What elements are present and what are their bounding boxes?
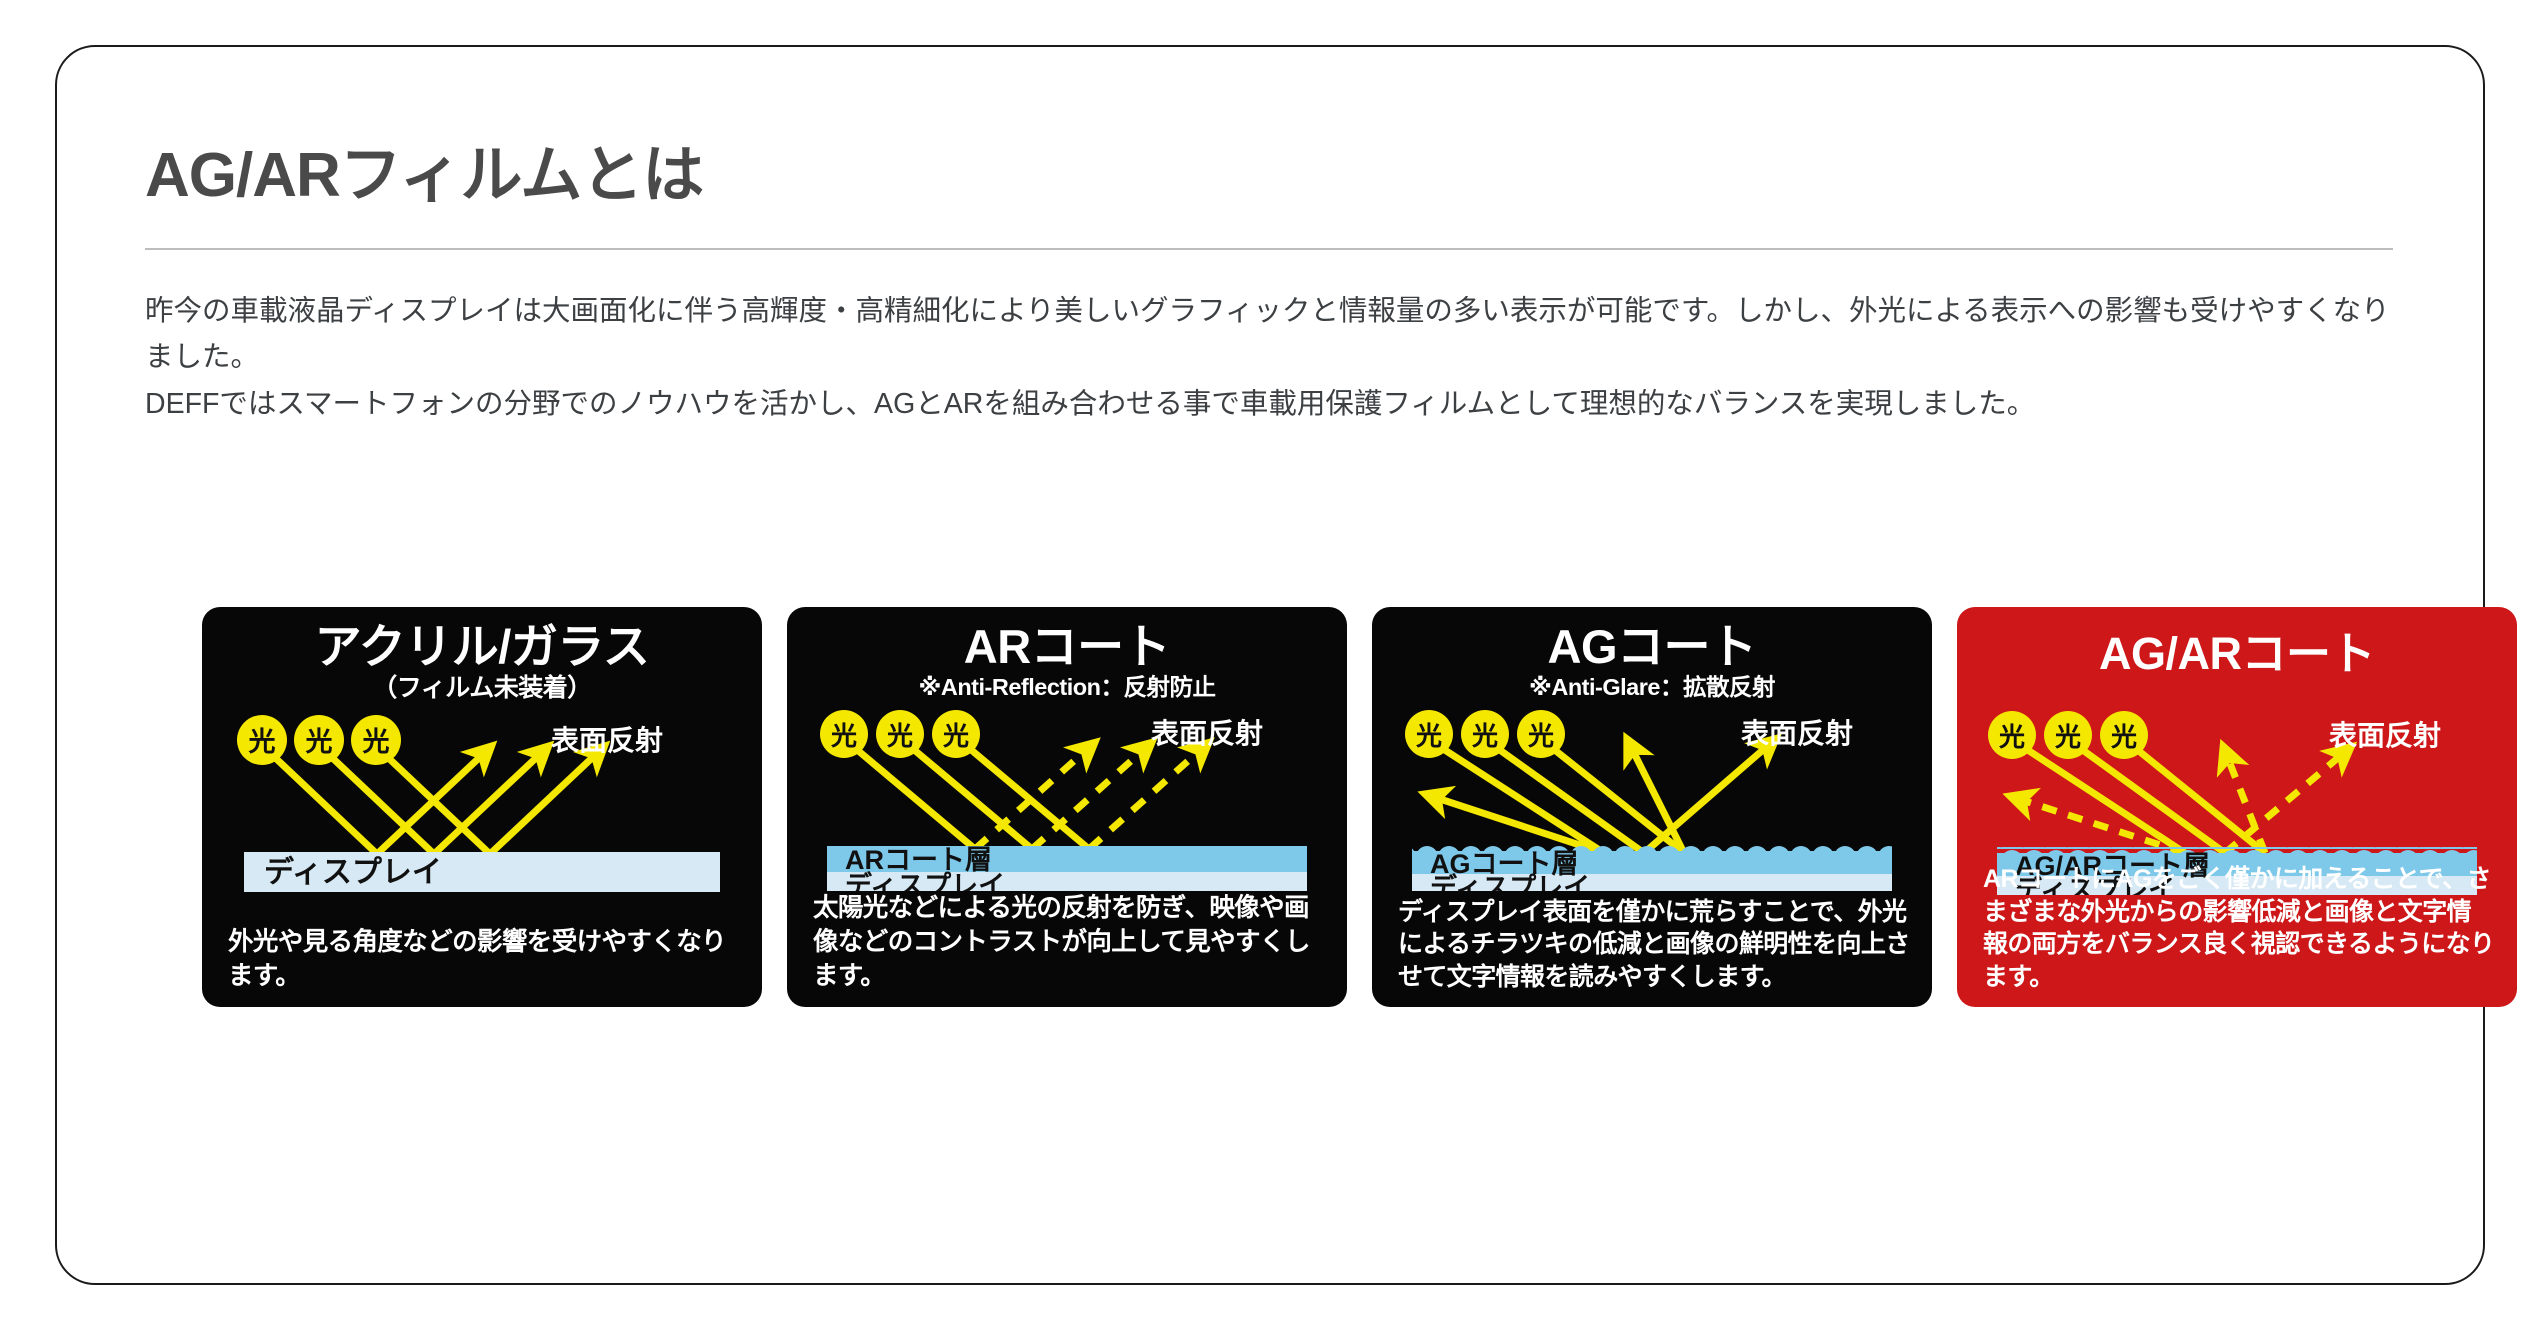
svg-text:表面反射: 表面反射 (1151, 718, 1263, 749)
card-ag-ar-coat: AG/ARコート (1957, 607, 2517, 1007)
intro-paragraph-2: DEFFではスマートフォンの分野でのノウハウを活かし、AGとARを組み合わせる事… (145, 381, 2393, 427)
card-caption: ARコートにAGをごく僅かに加えることで、さまざまな外光からの影響低減と画像と文… (1983, 863, 2495, 993)
light-source-group: 光 光 光 (1405, 710, 1565, 758)
card-caption: 太陽光などによる光の反射を防ぎ、映像や画像などのコントラストが向上して見やすくし… (813, 891, 1325, 993)
card-title: AG/ARコート (1957, 629, 2517, 679)
card-subtitle: ※Anti-Reflection：反射防止 (787, 674, 1347, 701)
svg-text:ディスプレイ: ディスプレイ (1430, 872, 1590, 891)
diagram-ar-coat: 光 光 光 表面反射 ARコート層 ディスプレイ ARコート層 ディスプレイ (787, 701, 1347, 891)
diagram-acrylic-glass: 光 光 光 表面反射 ディスプレイ 光 表面反射 ディスプレイ (202, 702, 762, 892)
intro-text: 昨今の車載液晶ディスプレイは大画面化に伴う高輝度・高精細化により美しいグラフィッ… (145, 288, 2393, 426)
comparison-card-list: アクリル/ガラス （フィルム未装着） (202, 607, 2517, 1007)
light-source-group: 光 光 光 (1988, 711, 2148, 759)
svg-text:光: 光 (2110, 722, 2137, 752)
card-caption: ディスプレイ表面を僅かに荒らすことで、外光によるチラツキの低減と画像の鮮明性を向… (1398, 896, 1910, 994)
svg-text:光: 光 (362, 727, 390, 757)
card-header: AGコート ※Anti-Glare：拡散反射 (1372, 607, 1932, 701)
card-acrylic-glass: アクリル/ガラス （フィルム未装着） (202, 607, 762, 1007)
svg-text:ディスプレイ: ディスプレイ (264, 855, 442, 889)
svg-text:表面反射: 表面反射 (2329, 720, 2441, 751)
intro-paragraph-1: 昨今の車載液晶ディスプレイは大画面化に伴う高輝度・高精細化により美しいグラフィッ… (145, 288, 2393, 380)
card-title: ARコート (787, 621, 1347, 674)
light-source-group: 光 光 光 (237, 715, 401, 765)
card-ag-coat: AGコート ※Anti-Glare：拡散反射 (1372, 607, 1932, 1007)
card-subtitle (1957, 679, 2517, 705)
svg-text:光: 光 (1527, 721, 1554, 751)
card-ar-coat: ARコート ※Anti-Reflection：反射防止 (787, 607, 1347, 1007)
svg-text:光: 光 (305, 727, 333, 757)
card-title: アクリル/ガラス (202, 621, 762, 674)
svg-text:光: 光 (942, 721, 969, 751)
svg-text:光: 光 (1415, 721, 1442, 751)
article-header: AG/ARフィルムとは 昨今の車載液晶ディスプレイは大画面化に伴う高輝度・高精細… (145, 142, 2393, 427)
svg-text:光: 光 (248, 727, 276, 757)
content-frame: AG/ARフィルムとは 昨今の車載液晶ディスプレイは大画面化に伴う高輝度・高精細… (55, 45, 2485, 1285)
svg-text:光: 光 (886, 721, 913, 751)
svg-text:光: 光 (830, 721, 857, 751)
light-source-group: 光 光 光 (820, 710, 980, 758)
page-title: AG/ARフィルムとは (145, 142, 2393, 210)
svg-text:光: 光 (2054, 722, 2081, 752)
svg-text:光: 光 (1998, 722, 2025, 752)
svg-text:ディスプレイ: ディスプレイ (845, 870, 1005, 891)
card-subtitle: （フィルム未装着） (202, 674, 762, 703)
title-divider (145, 248, 2393, 250)
diagram-ag-coat: 光 光 光 表面反射 AGコート層 ディスプレイ AGコート層 ディスプレイ (1372, 701, 1932, 891)
card-subtitle: ※Anti-Glare：拡散反射 (1372, 674, 1932, 701)
card-header: ARコート ※Anti-Reflection：反射防止 (787, 607, 1347, 701)
svg-text:表面反射: 表面反射 (1741, 718, 1853, 749)
card-header: AG/ARコート (1957, 607, 2517, 705)
card-header: アクリル/ガラス （フィルム未装着） (202, 607, 762, 702)
card-caption: 外光や見る角度などの影響を受けやすくなります。 (228, 925, 740, 993)
svg-text:表面反射: 表面反射 (551, 725, 663, 756)
card-title: AGコート (1372, 621, 1932, 674)
svg-text:光: 光 (1471, 721, 1498, 751)
